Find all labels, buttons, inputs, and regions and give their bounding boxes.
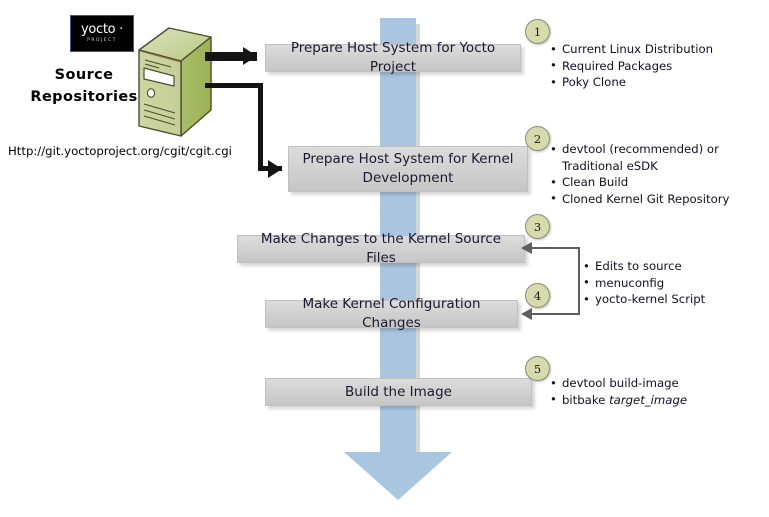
steps-3-4-bullet-2: yocto-kernel Script [583,291,705,308]
step-5-bullet-1-arg: target_image [609,393,687,407]
diagram-canvas: yocto · PROJECT [0,0,769,517]
connector-server-to-step2-h1 [205,83,263,88]
process-box-step-5[interactable]: Build the Image [265,378,532,406]
source-repositories-url: Http://git.yoctoproject.org/cgit/cgit.cg… [8,144,232,158]
step-number-3-label: 3 [534,220,541,234]
steps-3-4-bullet-1: menuconfig [583,275,705,292]
yocto-logo-subtitle: PROJECT [87,37,117,44]
process-box-step-5-label: Build the Image [345,383,452,402]
feedback-bracket-top-line [527,247,580,249]
source-repositories-label-line1: Source [28,64,140,86]
feedback-bracket-bottom-line [527,313,580,315]
process-box-step-2-label-line1: Prepare Host System for Kernel [302,150,513,169]
process-box-step-2[interactable]: Prepare Host System for Kernel Developme… [288,146,528,192]
step-5-bullet-0: devtool build-image [550,375,687,392]
step-number-2: 2 [525,126,550,151]
feedback-bracket-bottom-arrowhead [521,308,532,320]
source-repositories-label-line2: Repositories [28,86,140,108]
step-5-bullet-1: bitbake target_image [550,392,687,409]
step-number-1: 1 [525,19,550,44]
step-2-bullet-2: Clean Build [550,174,729,191]
step-number-2-label: 2 [534,132,541,146]
process-box-step-1[interactable]: Prepare Host System for Yocto Project [265,44,521,72]
step-number-5-label: 5 [534,362,541,376]
yocto-logo-wordmark: yocto · [81,23,123,36]
step-1-bullet-0: Current Linux Distribution [550,41,713,58]
process-box-step-3[interactable]: Make Changes to the Kernel Source Files [237,235,525,263]
step-number-4-label: 4 [534,289,541,303]
main-flow-arrow-head [344,452,452,500]
connector-server-to-step2-arrowhead [268,160,282,178]
steps-3-4-bullet-0: Edits to source [583,258,705,275]
source-repositories-label: Source Repositories [28,64,140,108]
step-number-3: 3 [525,214,550,239]
step-1-bullet-2: Poky Clone [550,74,713,91]
steps-3-4-bullet-list: Edits to source menuconfig yocto-kernel … [583,258,705,308]
step-number-5: 5 [525,356,550,381]
feedback-bracket-top-arrowhead [521,242,532,254]
step-1-bullet-list: Current Linux Distribution Required Pack… [550,41,713,91]
connector-server-to-step1-arrowhead [243,47,257,65]
process-box-step-2-label-line2: Development [363,169,454,188]
step-1-bullet-1: Required Packages [550,58,713,75]
process-box-step-4[interactable]: Make Kernel Configuration Changes [265,300,518,328]
feedback-bracket-vertical [578,247,580,314]
step-5-bullet-list: devtool build-image bitbake target_image [550,375,687,408]
step-2-bullet-list: devtool (recommended) or Traditional eSD… [550,141,729,207]
step-5-bullet-1-cmd: bitbake [562,393,609,407]
process-box-step-3-label: Make Changes to the Kernel Source Files [244,230,518,268]
process-box-step-1-label: Prepare Host System for Yocto Project [272,39,514,77]
process-box-step-4-label: Make Kernel Configuration Changes [272,295,511,333]
step-number-1-label: 1 [534,25,541,39]
step-2-bullet-0: devtool (recommended) or [550,141,729,158]
yocto-project-logo: yocto · PROJECT [70,15,134,52]
server-icon [133,24,215,150]
connector-server-to-step2-v [258,83,263,170]
step-number-4: 4 [525,283,550,308]
step-2-bullet-3: Cloned Kernel Git Repository [550,191,729,208]
step-2-bullet-1: Traditional eSDK [550,158,729,175]
